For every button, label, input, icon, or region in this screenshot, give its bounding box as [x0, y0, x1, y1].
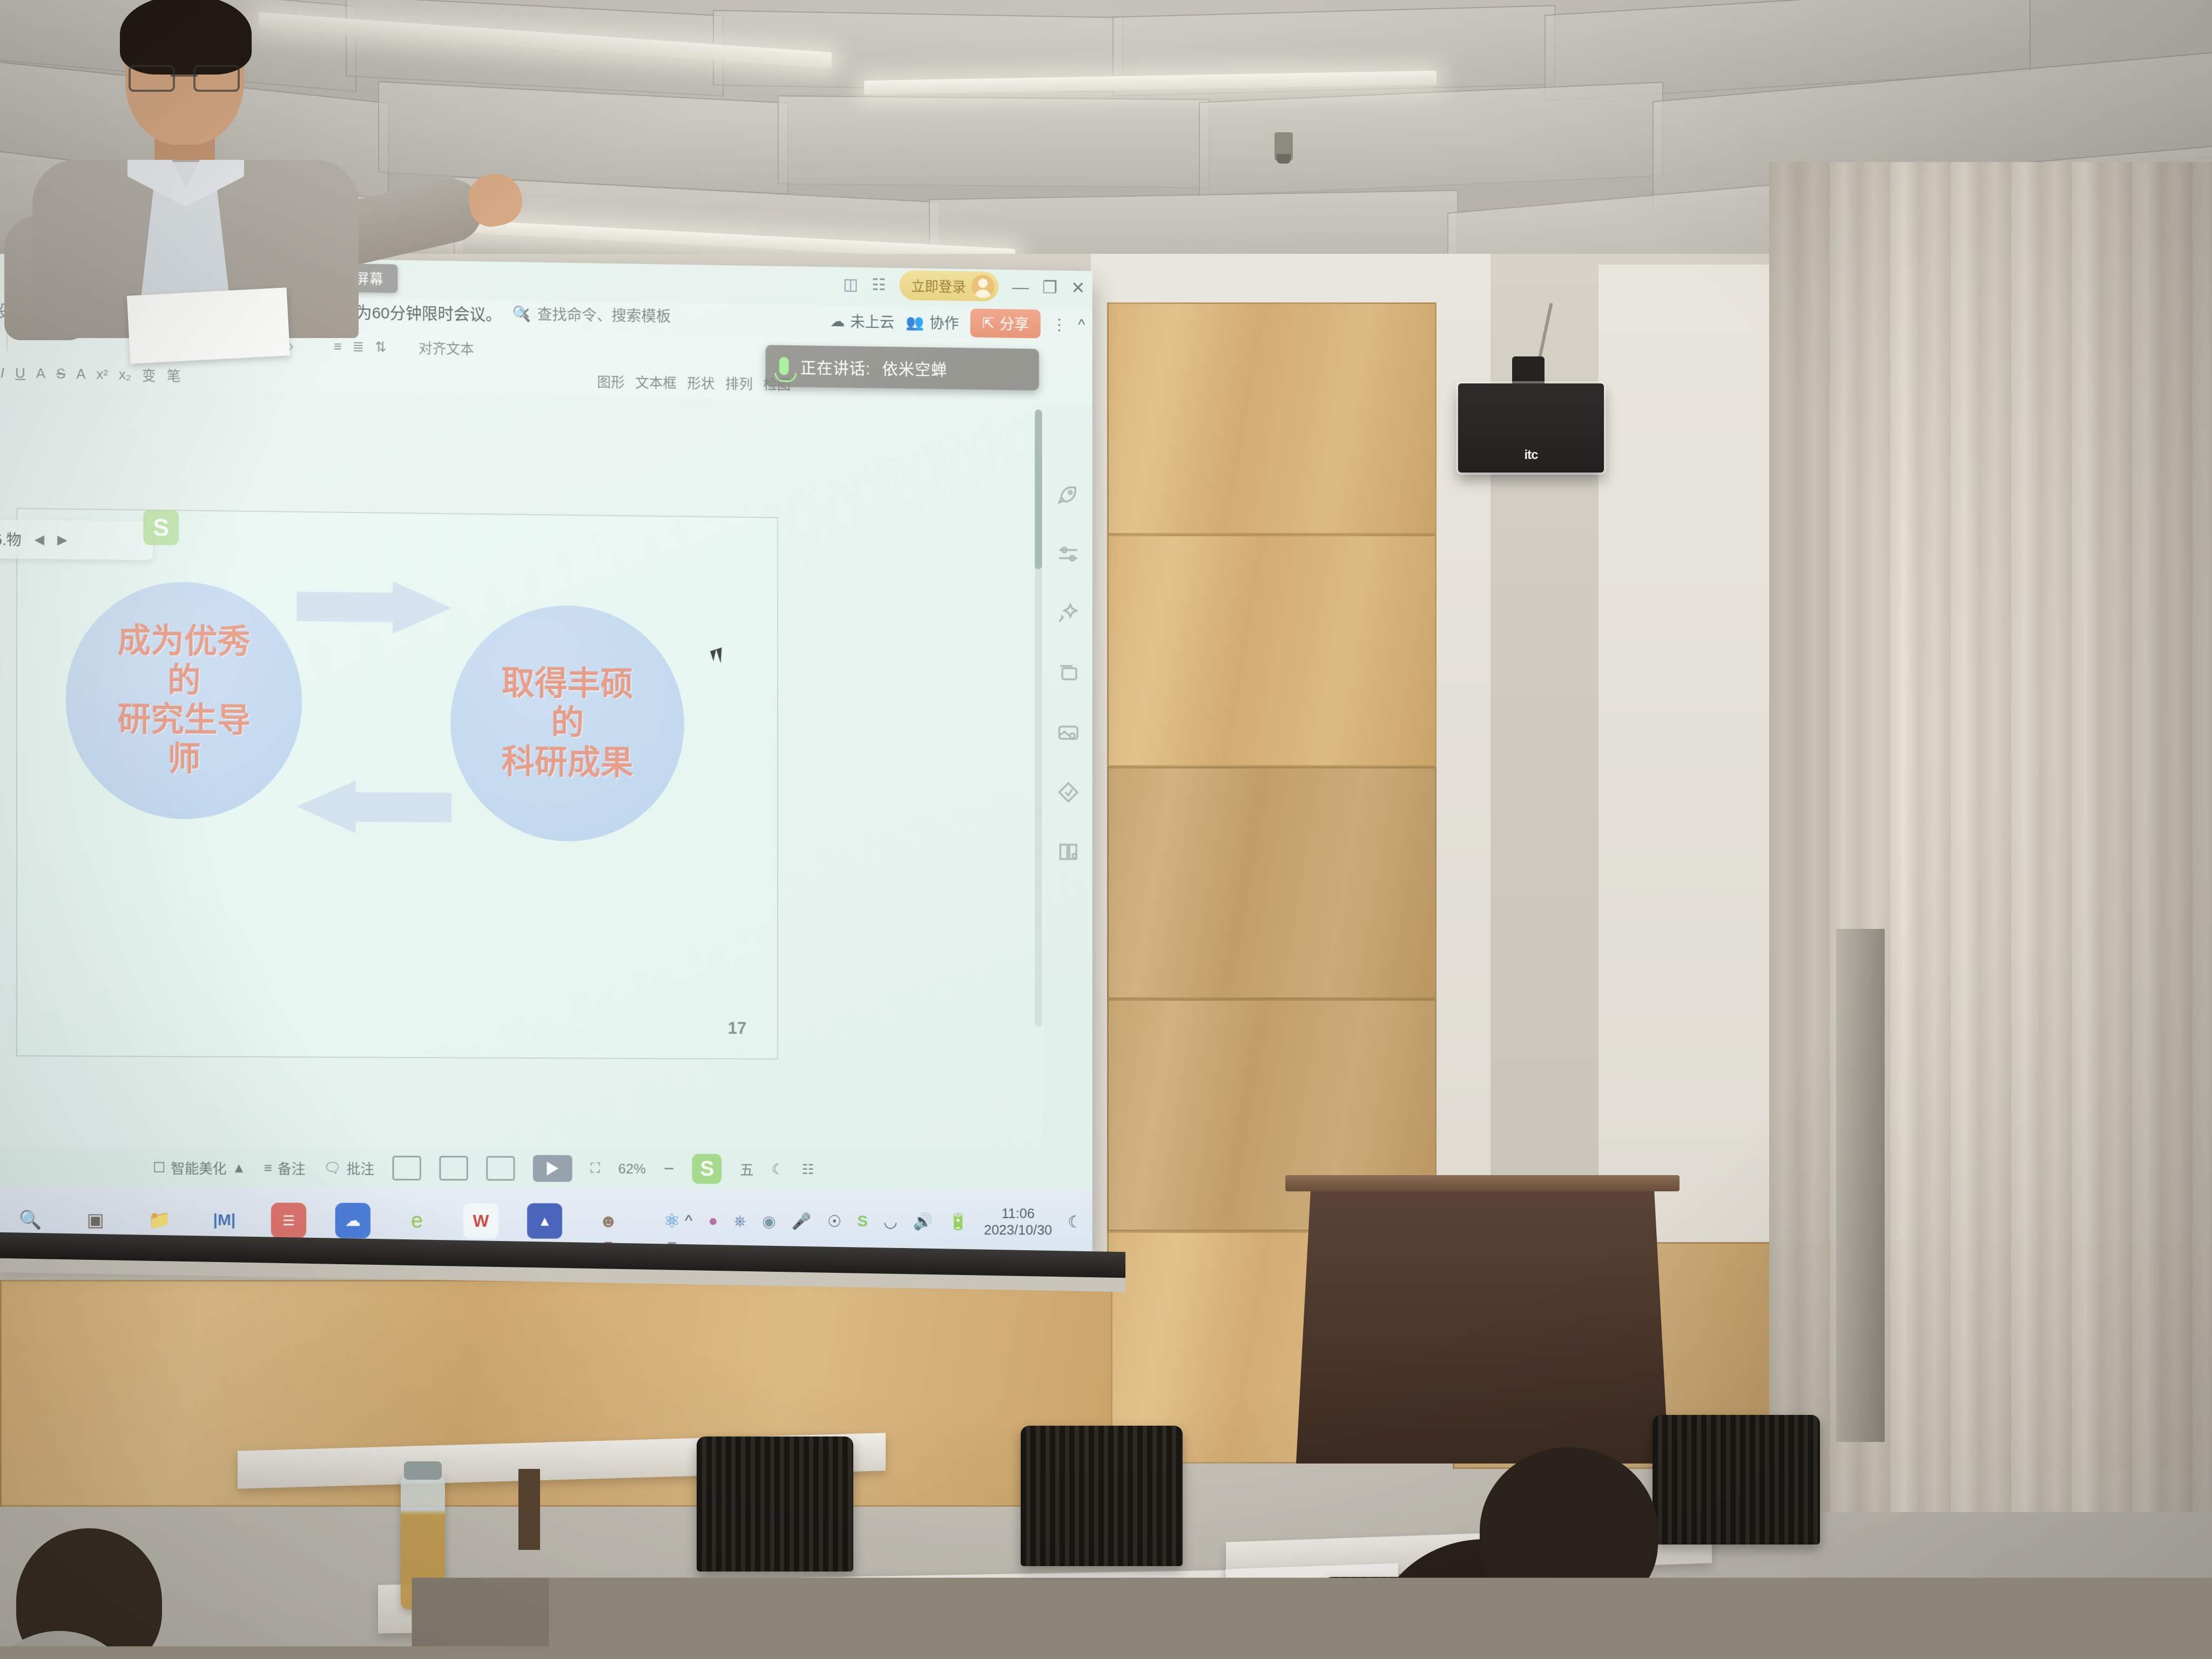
cloud-app-icon[interactable]: ☁: [335, 1203, 370, 1238]
voice-speaker-name: 依米空蝉: [882, 356, 948, 380]
chair: [994, 1599, 1166, 1659]
shape-button[interactable]: 形状: [687, 373, 714, 393]
table-leg: [518, 1469, 540, 1550]
ribbon-right-actions: ☁ 未上云 👥 协作 ⇱ 分享 ⋮ ^: [830, 306, 1085, 339]
clock-date: 2023/10/30: [984, 1222, 1052, 1238]
beautify-icon: ☐: [153, 1159, 165, 1176]
subscript-button[interactable]: x₂: [119, 366, 131, 383]
podium-top: [1285, 1175, 1680, 1191]
beautify-button[interactable]: ☐ 智能美化 ▲: [153, 1157, 246, 1177]
search-command-box[interactable]: 🔍 查找命令、搜索模板: [512, 302, 671, 326]
wood-panel: [1107, 302, 1437, 535]
search-icon: 🔍: [512, 305, 531, 322]
internet-explorer-icon[interactable]: e: [399, 1203, 434, 1239]
zoom-level-label[interactable]: 62%: [618, 1161, 646, 1177]
vertical-scrollbar-thumb[interactable]: [1035, 409, 1042, 569]
play-slideshow-button[interactable]: [533, 1155, 572, 1182]
align-text-button[interactable]: 对齐文本: [419, 338, 474, 358]
graphics-button[interactable]: 图形: [597, 371, 625, 391]
slides-icon[interactable]: [1056, 661, 1081, 686]
circle-left-line-1: 成为优秀: [118, 621, 251, 662]
book-icon[interactable]: [1056, 840, 1081, 865]
minimize-button[interactable]: —: [1012, 277, 1029, 297]
reading-view-icon[interactable]: [487, 1156, 515, 1181]
water-bottle: [401, 1474, 445, 1609]
wps-office-icon[interactable]: W: [463, 1203, 498, 1239]
file-explorer-icon[interactable]: 📁: [142, 1203, 178, 1238]
sogou-pinyin-icon[interactable]: ●: [708, 1212, 718, 1231]
window-frame: [1836, 929, 1885, 1442]
arrow-right-shape[interactable]: [296, 580, 451, 635]
superscript-button[interactable]: x²: [97, 366, 109, 382]
chair: [697, 1437, 853, 1572]
voice-speaking-overlay: 正在讲话: 依米空蝉: [766, 345, 1039, 390]
login-button[interactable]: 立即登录: [900, 270, 999, 301]
slide-circle-right[interactable]: 取得丰硕 的 科研成果: [450, 604, 684, 842]
change-case-button[interactable]: 变: [142, 365, 156, 385]
rocket-icon[interactable]: [1056, 482, 1081, 507]
circle-right-line-3: 科研成果: [502, 743, 633, 783]
conference-room-scene: itc 23.10 ☉ ✕ + 您正在共享屏幕 ◫ ☷ 立即: [0, 0, 2212, 1659]
comment-button[interactable]: 🗨 批注: [323, 1158, 374, 1178]
more-options-button[interactable]: ⋮: [1052, 315, 1067, 333]
text-shadow-button[interactable]: A: [36, 365, 45, 382]
line-spacing-icon[interactable]: ⇅: [375, 339, 387, 355]
presenter-notes-paper: [127, 287, 290, 363]
save-icon[interactable]: ☉: [0, 266, 1, 283]
italic-button[interactable]: I: [1, 365, 4, 381]
beautify-label: 智能美化: [171, 1157, 226, 1177]
chair: [1653, 1415, 1820, 1545]
microsoft-edge-icon[interactable]: ⚛: [655, 1204, 690, 1239]
chevron-up-icon[interactable]: ^: [685, 1212, 692, 1231]
notes-label: 备注: [278, 1158, 306, 1178]
ime-mode-label[interactable]: 五: [740, 1159, 753, 1179]
sogou-ime-icon[interactable]: S: [692, 1154, 722, 1184]
mindmaster-icon[interactable]: |M|: [207, 1203, 242, 1238]
char-border-button[interactable]: A: [76, 366, 85, 382]
slide-number: 17: [728, 1018, 747, 1038]
strikethrough-button[interactable]: S: [56, 365, 65, 382]
beautify-caret-icon: ▲: [232, 1159, 246, 1176]
circle-left-line-3: 研究生导: [118, 700, 251, 740]
presenter-hair: [120, 0, 252, 75]
speaker-brand-label: itc: [1524, 448, 1537, 463]
circle-right-line-1: 取得丰硕: [502, 664, 633, 705]
comment-label: 批注: [347, 1158, 374, 1178]
ceiling-tile: [778, 96, 1210, 188]
battery-icon[interactable]: 🔋: [948, 1212, 968, 1231]
volume-icon[interactable]: 🔊: [913, 1212, 933, 1231]
cloud-sync-button[interactable]: ☁ 未上云: [830, 310, 894, 332]
avatar-app-icon[interactable]: ☻: [591, 1203, 626, 1239]
voice-label: 正在讲话:: [800, 354, 871, 379]
ime-next-icon[interactable]: ▶: [57, 532, 67, 548]
blue-mountain-app-icon[interactable]: ▲: [527, 1203, 562, 1239]
sprinkler-head: [1274, 132, 1293, 160]
underline-button[interactable]: U: [15, 365, 25, 381]
share-button[interactable]: ⇱ 分享: [970, 308, 1041, 338]
chart-icon[interactable]: ⎈: [733, 1212, 746, 1231]
wood-panel: [1107, 535, 1437, 767]
sliders-icon[interactable]: [1056, 542, 1081, 567]
login-label: 立即登录: [911, 275, 966, 296]
apps-grid-icon[interactable]: ☷: [872, 275, 886, 294]
circle-right-line-2: 的: [551, 704, 584, 743]
presenter-glasses: [129, 65, 240, 89]
slide-circle-left[interactable]: 成为优秀 的 研究生导 师: [66, 581, 302, 820]
right-tool-panel: [1044, 403, 1092, 1255]
notes-icon: ≡: [264, 1159, 272, 1176]
magic-wand-icon[interactable]: [1056, 601, 1081, 626]
projection-screen: 23.10 ☉ ✕ + 您正在共享屏幕 ◫ ☷ 立即登录 — ❐: [0, 254, 1092, 1255]
cloud-icon: ☁: [830, 312, 845, 330]
layout-icon[interactable]: ◫: [843, 275, 858, 294]
slide-sorter-icon[interactable]: [440, 1156, 468, 1181]
image-icon[interactable]: [1056, 720, 1081, 745]
share-label: 分享: [1000, 313, 1029, 334]
share-icon: ⇱: [982, 314, 994, 332]
wifi-icon[interactable]: ◡: [884, 1212, 898, 1231]
people-icon: 👥: [906, 313, 925, 331]
ime-candidate-bar: 4.已nn 5.物 ◀ ▶: [0, 518, 153, 560]
curtain-shading: [1769, 162, 2212, 1512]
microphone-icon: [779, 357, 789, 375]
ime-prev-icon[interactable]: ◀: [35, 531, 44, 547]
taskbar-clock[interactable]: 11:06 2023/10/30: [984, 1205, 1052, 1238]
search-placeholder: 查找命令、搜索模板: [537, 303, 671, 326]
ime-candidate[interactable]: 5.物: [0, 528, 22, 550]
wood-panel: [1107, 767, 1437, 999]
chair: [605, 1615, 788, 1659]
apps-grid-icon[interactable]: ☷: [802, 1161, 814, 1178]
highlight-button[interactable]: 笔: [167, 365, 181, 385]
arrange-button[interactable]: 排列: [725, 373, 753, 393]
status-bar: ☐ 智能美化 ▲ ≡ 备注 🗨 批注 ⛶ 62% − S 五 ☾ ☷: [0, 1147, 1092, 1190]
moon-icon[interactable]: ☾: [772, 1161, 784, 1177]
cloud-label: 未上云: [850, 311, 894, 333]
podium: [1296, 1183, 1669, 1464]
normal-view-icon[interactable]: [393, 1156, 421, 1181]
current-slide[interactable]: 成为优秀 的 研究生导 师 取得丰硕 的 科研成果 17: [17, 509, 777, 1058]
system-tray: ^ ● ⎈ ◉ 🎤 ☉ S ◡ 🔊 🔋 11:06 2023/10/30 ☾: [685, 1189, 1082, 1255]
circle-left-line-4: 师: [167, 740, 201, 779]
collab-label: 协作: [929, 312, 959, 333]
task-view-icon[interactable]: ▣: [78, 1202, 113, 1238]
arrow-left-shape[interactable]: [296, 780, 451, 834]
chair: [1021, 1426, 1183, 1566]
collapse-ribbon-button[interactable]: ^: [1078, 316, 1085, 333]
zoom-out-button[interactable]: −: [664, 1158, 674, 1179]
restore-button[interactable]: ❐: [1042, 277, 1057, 298]
moon-icon[interactable]: ☾: [1068, 1212, 1082, 1231]
collaborate-button[interactable]: 👥 协作: [906, 311, 959, 333]
headset-icon[interactable]: ☉: [827, 1212, 841, 1231]
circle-left-line-2: 的: [167, 661, 201, 701]
divider: [6, 332, 8, 351]
wall-speaker: itc: [1458, 383, 1604, 473]
numbered-list-icon[interactable]: ≣: [353, 338, 365, 355]
close-window-button[interactable]: ✕: [1071, 278, 1085, 298]
notes-button[interactable]: ≡ 备注: [264, 1158, 306, 1178]
clock-time: 11:06: [984, 1205, 1052, 1222]
tag-icon[interactable]: [1056, 780, 1081, 805]
textbox-button[interactable]: 文本框: [635, 372, 677, 392]
red-app-icon[interactable]: ☰: [271, 1203, 306, 1238]
fit-to-window-icon[interactable]: ⛶: [590, 1160, 600, 1177]
camera-icon[interactable]: ◉: [762, 1212, 776, 1231]
sogou-s-icon[interactable]: S: [857, 1212, 868, 1231]
window-controls: ◫ ☷ 立即登录 — ❐ ✕: [843, 269, 1085, 303]
avatar: [971, 274, 994, 298]
bullet-list-icon[interactable]: ≡: [334, 338, 342, 355]
comment-icon: 🗨: [323, 1159, 341, 1176]
sogou-icon: S: [143, 509, 179, 545]
microphone-icon[interactable]: 🎤: [792, 1212, 811, 1231]
